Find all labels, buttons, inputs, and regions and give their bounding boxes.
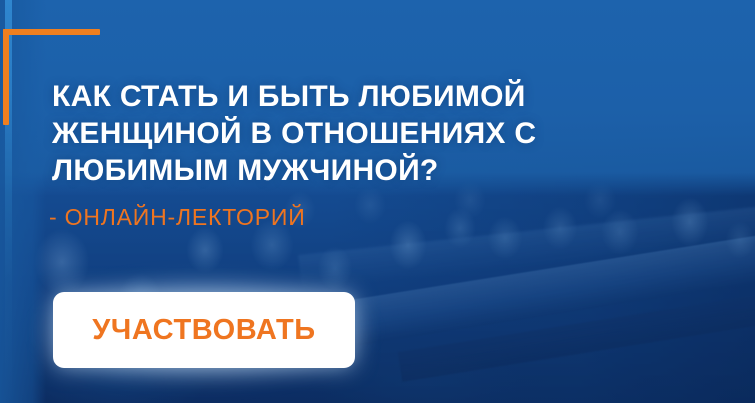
corner-bracket-vertical-icon (3, 29, 9, 125)
participate-button[interactable]: УЧАСТВОВАТЬ (53, 292, 355, 368)
headline-line-2: ЖЕНЩИНОЙ В ОТНОШЕНИЯХ С (52, 115, 536, 152)
subtitle: - ОНЛАЙН-ЛЕКТОРИЙ (49, 204, 306, 231)
promo-banner: КАК СТАТЬ И БЫТЬ ЛЮБИМОЙ ЖЕНЩИНОЙ В ОТНО… (0, 0, 755, 403)
headline-line-3: ЛЮБИМЫМ МУЖЧИНОЙ? (52, 152, 536, 189)
headline: КАК СТАТЬ И БЫТЬ ЛЮБИМОЙ ЖЕНЩИНОЙ В ОТНО… (52, 78, 536, 189)
headline-line-1: КАК СТАТЬ И БЫТЬ ЛЮБИМОЙ (52, 78, 536, 115)
